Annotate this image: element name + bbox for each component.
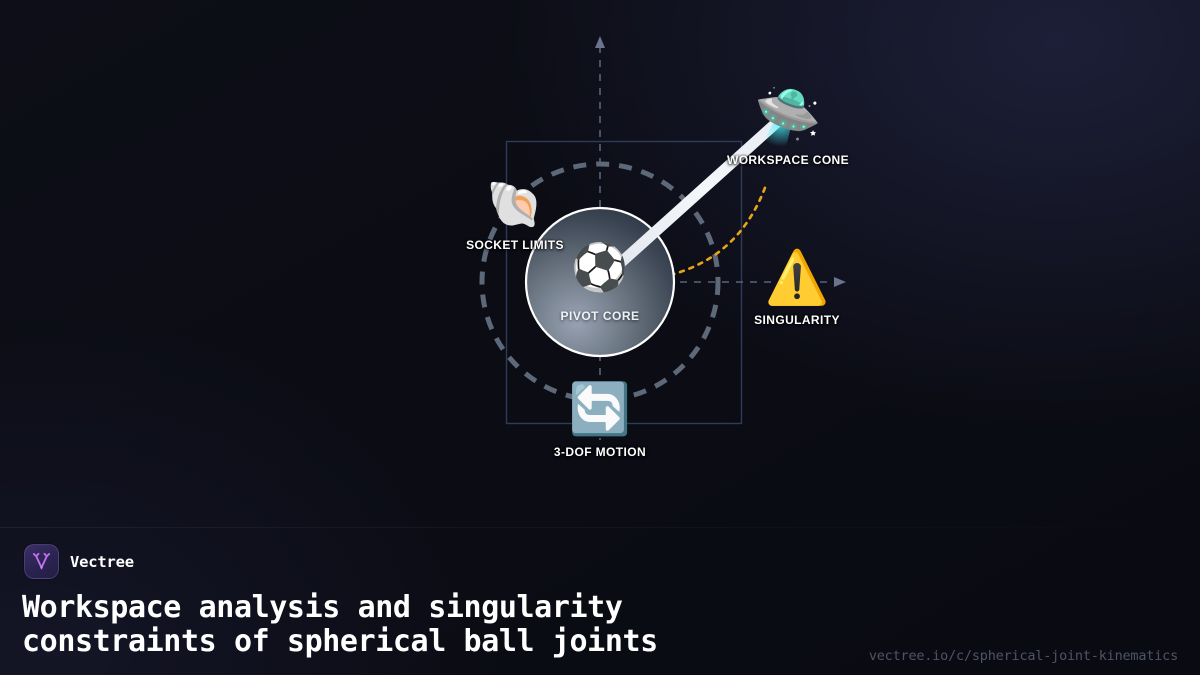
workspace-cone-label: WORKSPACE CONE bbox=[727, 153, 849, 167]
brand[interactable]: Vectree bbox=[24, 544, 134, 579]
spiral-shell-icon: 🐚 bbox=[486, 181, 543, 227]
arrows-clockwise-icon: 🔄 bbox=[569, 384, 631, 434]
socket-limits-label: SOCKET LIMITS bbox=[466, 238, 564, 252]
page-title: Workspace analysis and singularity const… bbox=[22, 591, 822, 659]
pivot-core-label: PIVOT CORE bbox=[560, 309, 639, 323]
warning-triangle-icon: ⚠️ bbox=[765, 252, 830, 304]
soccer-ball-icon: ⚽ bbox=[571, 244, 628, 290]
kinematics-diagram: ⚽ PIVOT CORE 🛸 WORKSPACE CONE 🐚 SOCKET L… bbox=[0, 0, 1200, 520]
flying-saucer-icon: 🛸 bbox=[754, 90, 821, 144]
axis-vertical-arrow-icon bbox=[595, 36, 605, 48]
three-dof-motion-label: 3-DOF MOTION bbox=[554, 445, 646, 459]
headline-line-2: constraints of spherical ball joints bbox=[22, 625, 822, 659]
vectree-logo-icon bbox=[24, 544, 59, 579]
poster-page: ⚽ PIVOT CORE 🛸 WORKSPACE CONE 🐚 SOCKET L… bbox=[0, 0, 1200, 675]
axis-horizontal-arrow-icon bbox=[834, 277, 846, 287]
site-url: vectree.io/c/spherical-joint-kinematics bbox=[869, 648, 1178, 664]
singularity-label: SINGULARITY bbox=[754, 313, 840, 327]
vectree-glyph bbox=[31, 551, 52, 572]
footer: Vectree Workspace analysis and singulari… bbox=[0, 528, 1200, 675]
headline-line-1: Workspace analysis and singularity bbox=[22, 591, 822, 625]
brand-name: Vectree bbox=[70, 553, 134, 571]
